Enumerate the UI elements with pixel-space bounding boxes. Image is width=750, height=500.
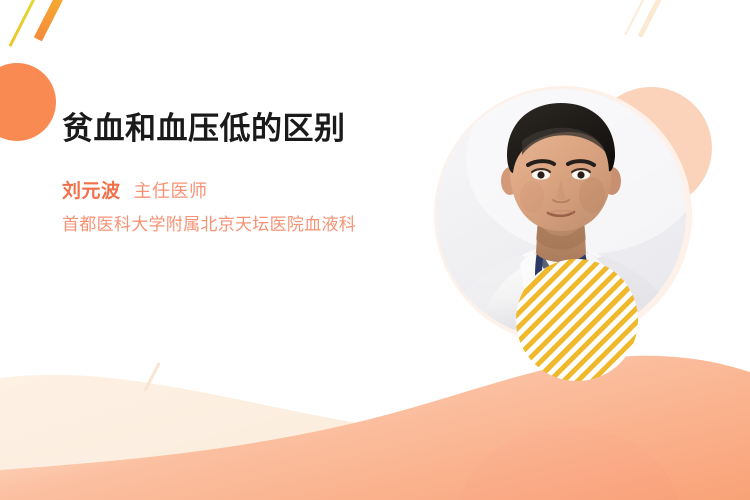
diagonal-stripe-faint-a xyxy=(638,0,669,38)
portrait-cluster xyxy=(432,83,712,373)
wave-salmon xyxy=(0,356,750,500)
text-block: 贫血和血压低的区别 刘元波 主任医师 首都医科大学附属北京天坛医院血液科 xyxy=(62,110,412,237)
department-name: 血液科 xyxy=(304,215,356,234)
diagonal-stripe-orange xyxy=(34,0,70,41)
page-title: 贫血和血压低的区别 xyxy=(62,110,412,148)
doctor-intro-card: 贫血和血压低的区别 刘元波 主任医师 首都医科大学附属北京天坛医院血液科 xyxy=(0,0,750,500)
wave-cream xyxy=(0,375,750,500)
diagonal-stripe-faint-c xyxy=(143,362,160,392)
doctor-name: 刘元波 xyxy=(62,176,121,203)
wave-salmon-lobe xyxy=(460,428,678,500)
hospital-name: 首都医科大学附属北京天坛医院 xyxy=(62,215,304,234)
doctor-identity-line: 刘元波 主任医师 xyxy=(62,176,412,203)
doctor-title: 主任医师 xyxy=(134,177,208,203)
orange-dot-decor xyxy=(0,63,56,141)
doctor-affiliation: 首都医科大学附属北京天坛医院血液科 xyxy=(62,212,392,237)
striped-disc-decor xyxy=(516,259,638,381)
diagonal-stripe-faint-b xyxy=(624,0,649,35)
diagonal-stripe-yellow xyxy=(9,0,47,47)
